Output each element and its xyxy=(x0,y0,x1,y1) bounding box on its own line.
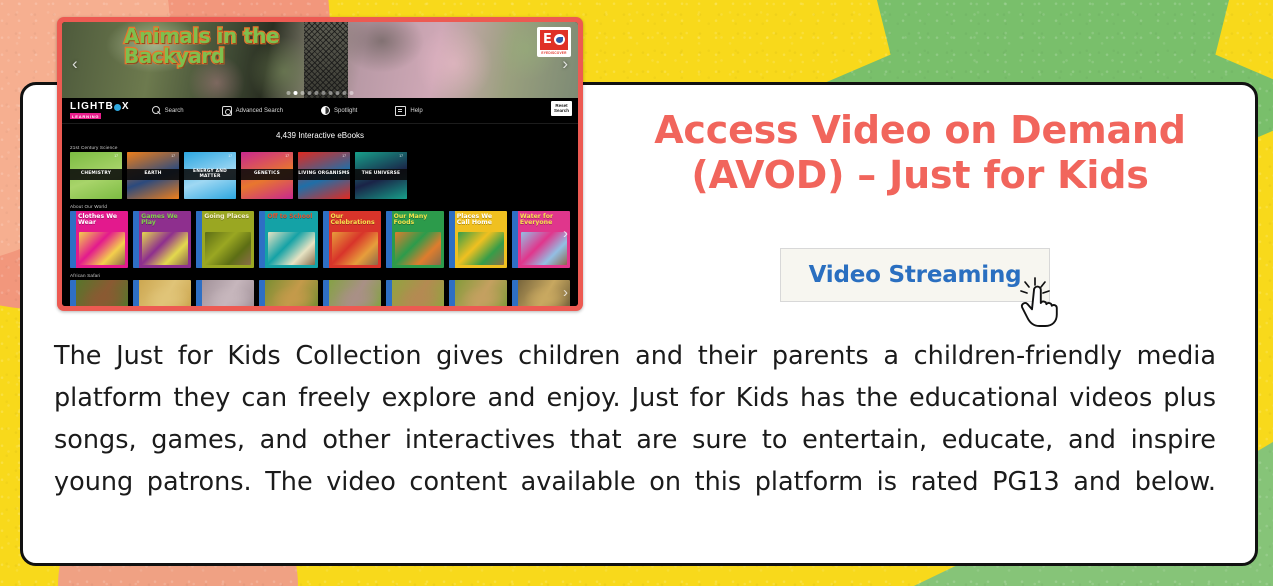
book-tile[interactable] xyxy=(449,280,507,306)
page-title: Access Video on Demand (AVOD) – Just for… xyxy=(600,108,1240,198)
lightbox-logo[interactable]: LIGHTB X LEARNING xyxy=(70,102,130,119)
carousel-prev-icon[interactable]: ‹ xyxy=(72,54,78,74)
book-number: 17 xyxy=(171,154,175,158)
nav-item-label: Help xyxy=(410,108,422,114)
book-cover-art xyxy=(205,232,251,265)
search-icon xyxy=(152,106,161,115)
shelf-label: About Our World xyxy=(70,204,570,209)
book-cover-art xyxy=(142,232,188,265)
book-tile[interactable] xyxy=(133,280,191,306)
shelf-list: 21st Century Science17CHEMISTRY17EARTH17… xyxy=(70,145,570,306)
book-title: THE UNIVERSE xyxy=(362,172,400,177)
help-icon xyxy=(395,106,406,116)
app-screen: Animals in the Backyard ‹ › E EYEDISCOVE… xyxy=(62,22,578,306)
nav-item-search[interactable]: Search xyxy=(152,106,184,115)
carousel-dot[interactable] xyxy=(329,91,333,95)
video-streaming-button-label: Video Streaming xyxy=(809,262,1022,288)
reset-search-button[interactable]: Reset Search xyxy=(551,101,572,116)
shelf-label: African Safari xyxy=(70,273,570,278)
nav-item-help[interactable]: Help xyxy=(395,106,422,116)
book-cover-art xyxy=(79,232,125,265)
book-cover-art xyxy=(395,232,441,265)
book-tile[interactable]: Our Celebrations xyxy=(323,211,381,268)
book-tile[interactable]: Clothes We Wear xyxy=(70,211,128,268)
book-tile[interactable] xyxy=(70,280,128,306)
shelf-row: › xyxy=(70,280,570,306)
book-number: 17 xyxy=(285,154,289,158)
shelf-next-icon[interactable]: › xyxy=(563,284,568,301)
book-spine xyxy=(449,211,455,268)
book-tile[interactable] xyxy=(196,280,254,306)
ebook-count-label: 4,439 Interactive eBooks xyxy=(70,131,570,140)
carousel-next-icon[interactable]: › xyxy=(562,54,568,74)
book-title: Going Places xyxy=(204,214,251,220)
app-content-area: 4,439 Interactive eBooks 21st Century Sc… xyxy=(62,124,578,306)
nav-item-spotlight[interactable]: Spotlight xyxy=(321,106,357,115)
book-tile[interactable]: Places We Call Home xyxy=(449,211,507,268)
carousel-dot[interactable] xyxy=(343,91,347,95)
pointing-hand-cursor-icon xyxy=(1014,276,1062,328)
carousel-dot[interactable] xyxy=(308,91,312,95)
book-tile[interactable]: 17THE UNIVERSE xyxy=(355,152,407,199)
book-cover-art xyxy=(202,280,254,306)
book-spine xyxy=(196,211,202,268)
book-cover-art xyxy=(521,232,567,265)
book-title: Water for Everyone xyxy=(520,214,567,227)
eyediscover-eye-icon xyxy=(554,34,565,45)
book-tile[interactable]: 17GENETICS xyxy=(241,152,293,199)
book-tile[interactable]: Games We Play xyxy=(133,211,191,268)
book-spine xyxy=(386,211,392,268)
shelf-next-icon[interactable]: › xyxy=(563,225,568,242)
book-spine xyxy=(70,211,76,268)
carousel-dot[interactable] xyxy=(350,91,354,95)
book-title: CHEMISTRY xyxy=(81,172,111,177)
eyediscover-letter: E xyxy=(543,33,552,46)
spotlight-icon xyxy=(321,106,330,115)
book-title: GENETICS xyxy=(254,172,280,177)
book-tile[interactable]: 17CHEMISTRY xyxy=(70,152,122,199)
carousel-dot[interactable] xyxy=(315,91,319,95)
lightbox-wordmark: LIGHTB X xyxy=(70,102,130,112)
book-tile[interactable]: Off to School xyxy=(259,211,317,268)
book-tile[interactable] xyxy=(386,280,444,306)
lightbox-learning-badge: LEARNING xyxy=(70,113,101,119)
carousel-dot[interactable] xyxy=(322,91,326,95)
book-title-band: ENERGY AND MATTER xyxy=(184,169,236,180)
book-tile[interactable]: 17EARTH xyxy=(127,152,179,199)
advanced-search-icon xyxy=(222,106,232,116)
book-cover-art xyxy=(455,280,507,306)
book-tile[interactable] xyxy=(323,280,381,306)
app-nav-items: SearchAdvanced SearchSpotlightHelp xyxy=(152,106,461,116)
book-tile[interactable]: 17LIVING ORGANISMS xyxy=(298,152,350,199)
book-number: 17 xyxy=(114,154,118,158)
nav-item-label: Search xyxy=(165,108,184,114)
carousel-dot[interactable] xyxy=(294,91,298,95)
carousel-dot[interactable] xyxy=(287,91,291,95)
lightbox-word-b: X xyxy=(122,102,130,112)
book-title: EARTH xyxy=(144,172,161,177)
book-tile[interactable]: Our Many Foods xyxy=(386,211,444,268)
nav-item-advanced-search[interactable]: Advanced Search xyxy=(222,106,283,116)
description-paragraph: The Just for Kids Collection gives child… xyxy=(54,335,1216,545)
shelf-row: Clothes We WearGames We PlayGoing Places… xyxy=(70,211,570,268)
carousel-dots[interactable] xyxy=(287,91,354,95)
book-number: 17 xyxy=(399,154,403,158)
book-title-band: THE UNIVERSE xyxy=(355,169,407,180)
eyediscover-mark: E xyxy=(540,30,568,50)
book-title: LIVING ORGANISMS xyxy=(298,172,350,177)
book-cover-art xyxy=(139,280,191,306)
book-title-band: EARTH xyxy=(127,169,179,180)
shelf-row: 17CHEMISTRY17EARTH17ENERGY AND MATTER17G… xyxy=(70,152,570,199)
book-title: Our Celebrations xyxy=(331,214,378,227)
lightbox-app-screenshot: Animals in the Backyard ‹ › E EYEDISCOVE… xyxy=(57,17,583,311)
book-spine xyxy=(259,211,265,268)
video-streaming-button[interactable]: Video Streaming xyxy=(780,248,1050,302)
book-tile[interactable]: Going Places xyxy=(196,211,254,268)
book-spine xyxy=(323,211,329,268)
shelf-label: 21st Century Science xyxy=(70,145,570,150)
eyediscover-wordmark: EYEDISCOVER xyxy=(541,51,566,55)
hero-carousel[interactable]: Animals in the Backyard ‹ › E EYEDISCOVE… xyxy=(62,22,578,98)
book-spine xyxy=(512,211,518,268)
eyediscover-logo: E EYEDISCOVER xyxy=(537,27,571,57)
book-title-band: LIVING ORGANISMS xyxy=(298,169,350,180)
book-title: Games We Play xyxy=(141,214,188,227)
book-number: 17 xyxy=(342,154,346,158)
book-tile[interactable]: 17ENERGY AND MATTER xyxy=(184,152,236,199)
book-title: Places We Call Home xyxy=(457,214,504,227)
book-title: Off to School xyxy=(267,214,314,220)
book-cover-art xyxy=(329,280,381,306)
book-cover-art xyxy=(268,232,314,265)
app-navbar: LIGHTB X LEARNING SearchAdvanced SearchS… xyxy=(62,98,578,124)
book-title-band: GENETICS xyxy=(241,169,293,180)
book-title-band: CHEMISTRY xyxy=(70,169,122,180)
carousel-dot[interactable] xyxy=(336,91,340,95)
book-cover-art xyxy=(332,232,378,265)
book-title: Clothes We Wear xyxy=(78,214,125,227)
book-tile[interactable]: Water for Everyone xyxy=(512,211,570,268)
hero-title: Animals in the Backyard xyxy=(124,27,314,66)
book-cover-art xyxy=(458,232,504,265)
book-title: ENERGY AND MATTER xyxy=(184,170,236,179)
book-cover-art xyxy=(76,280,128,306)
nav-item-label: Advanced Search xyxy=(236,108,283,114)
carousel-dot[interactable] xyxy=(301,91,305,95)
book-cover-art xyxy=(392,280,444,306)
book-number: 17 xyxy=(228,154,232,158)
book-cover-art xyxy=(265,280,317,306)
book-tile[interactable] xyxy=(512,280,570,306)
lightbox-word-a: LIGHTB xyxy=(70,102,114,112)
lightbox-dot-icon xyxy=(114,104,121,111)
book-tile[interactable] xyxy=(259,280,317,306)
reset-search-line2: Search xyxy=(554,108,569,113)
book-title: Our Many Foods xyxy=(394,214,441,227)
book-spine xyxy=(133,211,139,268)
nav-item-label: Spotlight xyxy=(334,108,357,114)
